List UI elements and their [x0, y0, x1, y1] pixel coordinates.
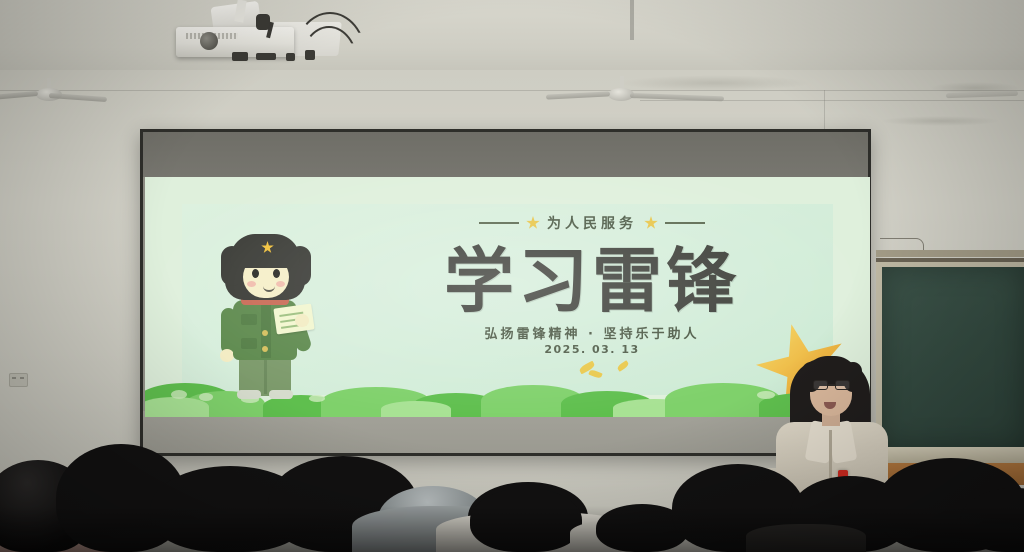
projector-port: [232, 52, 248, 61]
ceiling: [0, 0, 1024, 78]
presentation-slide: 为人民服务 学习雷锋 弘扬雷锋精神 · 坚持乐于助人 2025. 03. 13: [145, 177, 870, 417]
character-shoe: [237, 390, 261, 399]
character-hand: [295, 314, 309, 327]
wall-mark: [880, 116, 1000, 126]
character-button: [262, 330, 268, 336]
wall-outlet-slot: [12, 377, 16, 379]
character-cheek: [247, 281, 256, 287]
wall-outlet-slot: [20, 377, 24, 379]
slide-headline: 学习雷锋: [367, 229, 817, 321]
character-shoe: [269, 390, 293, 399]
glasses-icon: [813, 380, 828, 390]
wall-mark: [620, 75, 810, 91]
projector-port: [256, 53, 276, 60]
character-eye: [252, 269, 259, 278]
projector-lens: [200, 32, 218, 50]
chalkboard-rail: [876, 250, 1024, 257]
character-eye: [273, 269, 280, 278]
character-cheek: [276, 281, 285, 287]
wall-seam: [0, 90, 1024, 91]
ceiling-seam: [630, 0, 634, 40]
character-button: [262, 346, 268, 352]
character-leg-split: [264, 360, 267, 394]
projection-screen[interactable]: 为人民服务 学习雷锋 弘扬雷锋精神 · 坚持乐于助人 2025. 03. 13: [140, 129, 871, 456]
glasses-icon: [835, 380, 850, 390]
character-pocket: [241, 314, 257, 325]
cartoon-character: [217, 234, 313, 399]
audience: [0, 422, 1024, 552]
leaf: [199, 393, 213, 401]
character-pocket: [241, 338, 257, 349]
student-head: [470, 488, 582, 552]
slide-subtitle: 弘扬雷锋精神 · 坚持乐于助人: [407, 323, 777, 342]
chalkboard-surface[interactable]: [882, 267, 1024, 447]
character-hand: [220, 349, 234, 362]
bush: [145, 397, 209, 417]
slide-date: 2025. 03. 13: [407, 343, 777, 356]
bush: [381, 401, 451, 417]
classroom-photo: 为人民服务 学习雷锋 弘扬雷锋精神 · 坚持乐于助人 2025. 03. 13: [0, 0, 1024, 552]
student-shoulder: [746, 524, 866, 552]
screen-top-band: [143, 132, 868, 177]
glasses-bridge: [828, 384, 835, 386]
character-mouth: [263, 286, 275, 292]
leaf: [171, 390, 187, 399]
wall-outlet[interactable]: [9, 373, 28, 387]
